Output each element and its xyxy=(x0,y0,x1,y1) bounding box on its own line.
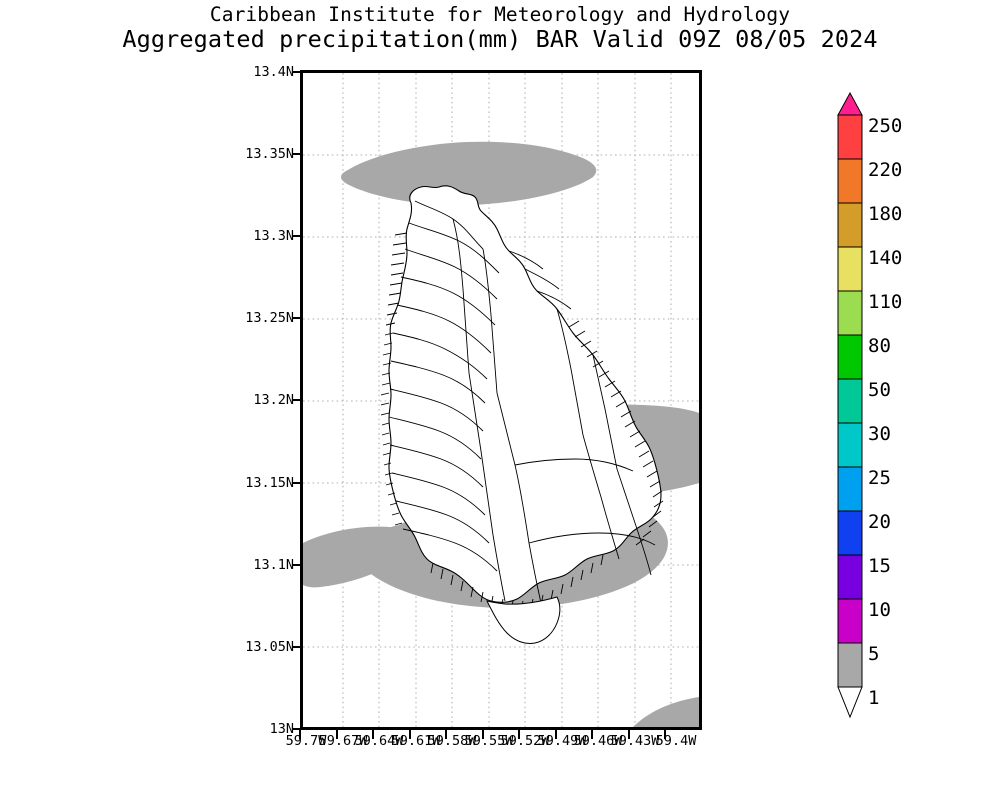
barbados-coastline xyxy=(389,186,661,603)
colorbar-tick-label: 80 xyxy=(868,335,891,357)
x-tick-mark xyxy=(409,730,411,739)
product-title: Aggregated precipitation(mm) BAR Valid 0… xyxy=(0,26,1000,52)
y-tick-mark xyxy=(292,235,302,237)
chart-title-block: Caribbean Institute for Meteorology and … xyxy=(0,4,1000,52)
x-tick-mark xyxy=(518,730,520,739)
x-tick-label: 59.43W xyxy=(611,733,660,749)
x-tick-label: 59.4W xyxy=(656,733,697,749)
map-canvas xyxy=(303,73,699,727)
y-tick-mark xyxy=(292,646,302,648)
colorbar-tick-label: 20 xyxy=(868,511,891,533)
colorbar-tick-label: 25 xyxy=(868,467,891,489)
institute-title: Caribbean Institute for Meteorology and … xyxy=(0,4,1000,26)
x-tick-mark xyxy=(555,730,557,739)
colorbar-tick-label: 5 xyxy=(868,643,879,665)
y-tick-mark xyxy=(292,317,302,319)
y-tick-label: 13.25N xyxy=(245,310,294,326)
precipitation-colorbar[interactable] xyxy=(837,93,863,717)
colorbar-tick-label: 30 xyxy=(868,423,891,445)
colorbar-band-140-180 xyxy=(838,203,862,247)
y-tick-label: 13.3N xyxy=(253,228,294,244)
x-tick-mark xyxy=(482,730,484,739)
colorbar-tick-label: 15 xyxy=(868,555,891,577)
y-tick-mark xyxy=(292,564,302,566)
colorbar-tick-label: 110 xyxy=(868,291,902,313)
colorbar-tick-label: 1 xyxy=(868,687,879,709)
y-tick-label: 13.05N xyxy=(245,639,294,655)
y-tick-mark xyxy=(292,482,302,484)
colorbar-band-15-20 xyxy=(838,511,862,555)
map-plot-area[interactable] xyxy=(300,70,702,730)
y-tick-mark xyxy=(292,71,302,73)
y-tick-label: 13.4N xyxy=(253,64,294,80)
x-tick-mark xyxy=(628,730,630,739)
colorbar-tick-label: 250 xyxy=(868,115,902,137)
colorbar-tick-label: 140 xyxy=(868,247,902,269)
x-tick-mark xyxy=(336,730,338,739)
colorbar-tick-label: 50 xyxy=(868,379,891,401)
y-tick-label: 13.1N xyxy=(253,557,294,573)
south-peninsula xyxy=(487,597,560,644)
x-tick-mark xyxy=(591,730,593,739)
colorbar-band-220-250 xyxy=(838,115,862,159)
colorbar-band-30-50 xyxy=(838,379,862,423)
colorbar-band-180-220 xyxy=(838,159,862,203)
colorbar-under-arrow xyxy=(838,687,862,717)
x-tick-mark xyxy=(664,730,666,739)
colorbar-tick-label: 180 xyxy=(868,203,902,225)
colorbar-band-10-15 xyxy=(838,555,862,599)
colorbar-band-25-30 xyxy=(838,423,862,467)
colorbar-band-5-10 xyxy=(838,599,862,643)
colorbar-tick-label: 10 xyxy=(868,599,891,621)
colorbar-band-80-110 xyxy=(838,291,862,335)
colorbar-band-50-80 xyxy=(838,335,862,379)
precipitation-map-svg xyxy=(303,73,699,727)
x-tick-mark xyxy=(372,730,374,739)
colorbar-band-1-5 xyxy=(838,643,862,687)
colorbar-band-110-140 xyxy=(838,247,862,291)
y-tick-label: 13.15N xyxy=(245,475,294,491)
x-tick-mark xyxy=(299,730,301,739)
x-tick-mark xyxy=(445,730,447,739)
colorbar-over-arrow xyxy=(838,93,862,115)
y-tick-label: 13.35N xyxy=(245,146,294,162)
colorbar-tick-label: 220 xyxy=(868,159,902,181)
colorbar-band-20-25 xyxy=(838,467,862,511)
y-tick-mark xyxy=(292,399,302,401)
colorbar-svg xyxy=(837,93,863,717)
y-tick-mark xyxy=(292,153,302,155)
y-tick-label: 13.2N xyxy=(253,392,294,408)
